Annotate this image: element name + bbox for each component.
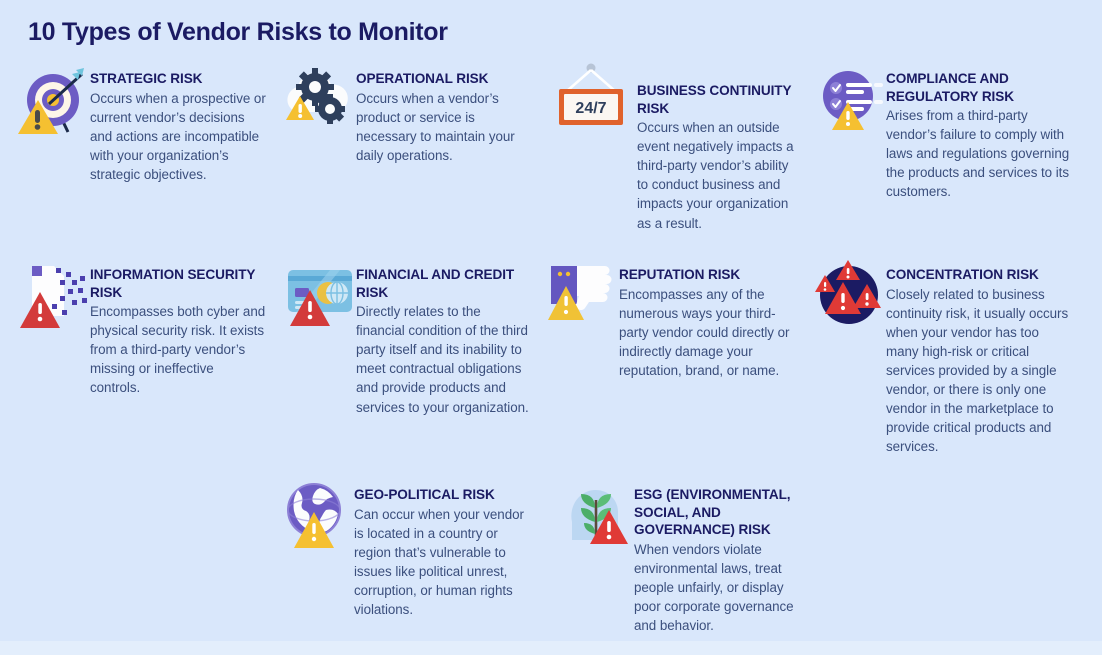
risk-body: When vendors violate environmental laws,… [634,540,812,635]
risk-text-block: OPERATIONAL RISK Occurs when a vendor’s … [356,62,532,165]
risk-heading: COMPLIANCE AND REGULATORY RISK [886,70,1074,105]
risk-text-block: ESG (ENVIRONMENTAL, SOCIAL, AND GOVERNAN… [634,478,812,635]
infographic-canvas: 10 Types of Vendor Risks to Monitor STRA… [0,0,1102,655]
checklist-circle-warning-icon [812,62,886,136]
risk-text-block: FINANCIAL AND CREDIT RISK Directly relat… [356,258,532,417]
risk-card-business-continuity-risk: 24/7 BUSINESS CONTINUITY RISK Occurs whe… [545,58,797,233]
risk-heading: CONCENTRATION RISK [886,266,1074,284]
risk-card-reputation-risk: REPUTATION RISK Encompasses any of the n… [545,258,797,380]
risk-heading: STRATEGIC RISK [90,70,266,88]
risk-card-financial-and-credit-risk: FINANCIAL AND CREDIT RISK Directly relat… [282,258,532,417]
risk-card-concentration-risk: CONCENTRATION RISK Closely related to bu… [812,258,1074,456]
risk-text-block: BUSINESS CONTINUITY RISK Occurs when an … [637,58,797,233]
thumbs-down-warning-icon [545,258,619,332]
risk-body: Occurs when an outside event negatively … [637,118,797,232]
risk-heading: OPERATIONAL RISK [356,70,532,88]
risk-text-block: REPUTATION RISK Encompasses any of the n… [619,258,797,380]
risk-body: Occurs when a vendor’s product or servic… [356,89,532,165]
risk-body: Arises from a third-party vendor’s failu… [886,106,1074,201]
risk-card-strategic-risk: STRATEGIC RISK Occurs when a prospective… [16,62,266,184]
risk-text-block: COMPLIANCE AND REGULATORY RISK Arises fr… [886,62,1074,202]
credit-card-warning-icon [282,258,356,332]
risk-heading: GEO-POLITICAL RISK [354,486,530,504]
head-plant-warning-icon [560,478,634,552]
risk-card-operational-risk: OPERATIONAL RISK Occurs when a vendor’s … [282,62,532,165]
risk-card-information-security-risk: INFORMATION SECURITY RISK Encompasses bo… [16,258,266,398]
multiple-warnings-circle-icon [812,258,886,332]
risk-text-block: CONCENTRATION RISK Closely related to bu… [886,258,1074,456]
risk-text-block: GEO-POLITICAL RISK Can occur when your v… [354,478,530,619]
risk-text-block: STRATEGIC RISK Occurs when a prospective… [90,62,266,184]
risk-body: Occurs when a prospective or current ven… [90,89,266,184]
risk-body: Can occur when your vendor is located in… [354,505,530,619]
risk-body: Encompasses both cyber and physical secu… [90,302,266,397]
risk-heading: FINANCIAL AND CREDIT RISK [356,266,532,301]
risk-card-compliance-and-regulatory-risk: COMPLIANCE AND REGULATORY RISK Arises fr… [812,62,1074,202]
risk-heading: BUSINESS CONTINUITY RISK [637,82,797,117]
page-title: 10 Types of Vendor Risks to Monitor [28,18,448,47]
cloud-gears-warning-icon [282,62,356,136]
risk-body: Closely related to business continuity r… [886,285,1074,456]
target-arrow-warning-icon [16,62,90,136]
hanging-sign-24-7-icon: 24/7 [545,58,637,132]
risk-heading: ESG (ENVIRONMENTAL, SOCIAL, AND GOVERNAN… [634,486,812,539]
bottom-strip [0,641,1102,655]
globe-warning-icon [280,478,354,552]
risk-heading: REPUTATION RISK [619,266,797,284]
document-pixel-breach-warning-icon [16,258,90,332]
risk-body: Directly relates to the financial condit… [356,302,532,416]
sign-label: 24/7 [575,100,606,117]
risk-card-geo-political-risk: GEO-POLITICAL RISK Can occur when your v… [280,478,530,619]
risk-body: Encompasses any of the numerous ways you… [619,285,797,380]
risk-heading: INFORMATION SECURITY RISK [90,266,266,301]
risk-text-block: INFORMATION SECURITY RISK Encompasses bo… [90,258,266,398]
risk-card-esg-risk: ESG (ENVIRONMENTAL, SOCIAL, AND GOVERNAN… [560,478,812,635]
